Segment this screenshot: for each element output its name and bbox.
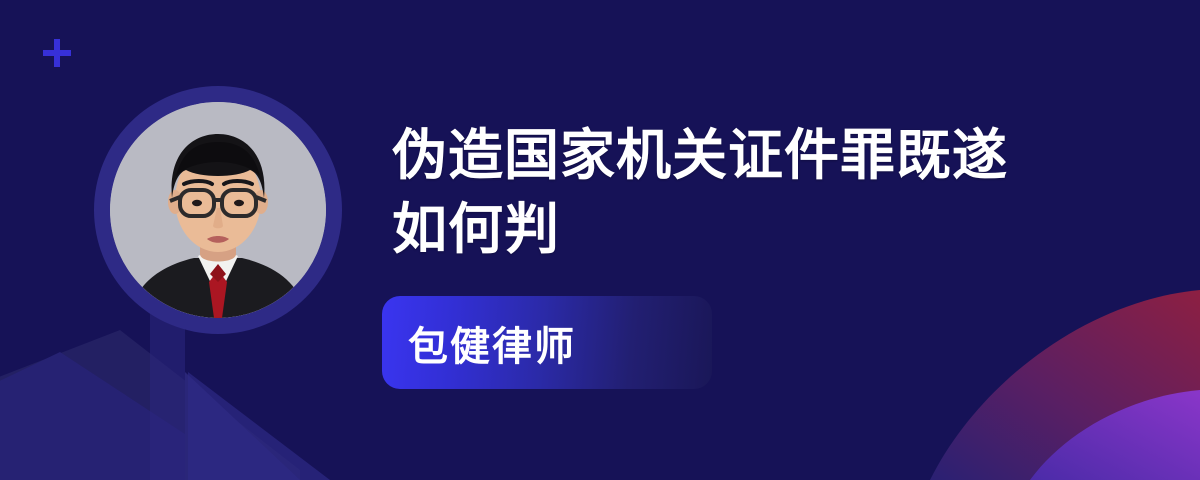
plus-icon — [43, 39, 71, 67]
angular-shape-center-right — [188, 372, 330, 480]
headline-block: 伪造国家机关证件罪既遂 如何判 — [392, 118, 1092, 266]
lawyer-name-button[interactable]: 包健律师 — [382, 296, 712, 389]
avatar — [94, 86, 342, 334]
lawyer-name-label: 包健律师 — [408, 314, 576, 372]
page-title: 伪造国家机关证件罪既遂 如何判 — [392, 118, 1092, 266]
avatar-photo — [110, 102, 326, 318]
lawyer-article-banner: 伪造国家机关证件罪既遂 如何判 包健律师 — [0, 0, 1200, 480]
